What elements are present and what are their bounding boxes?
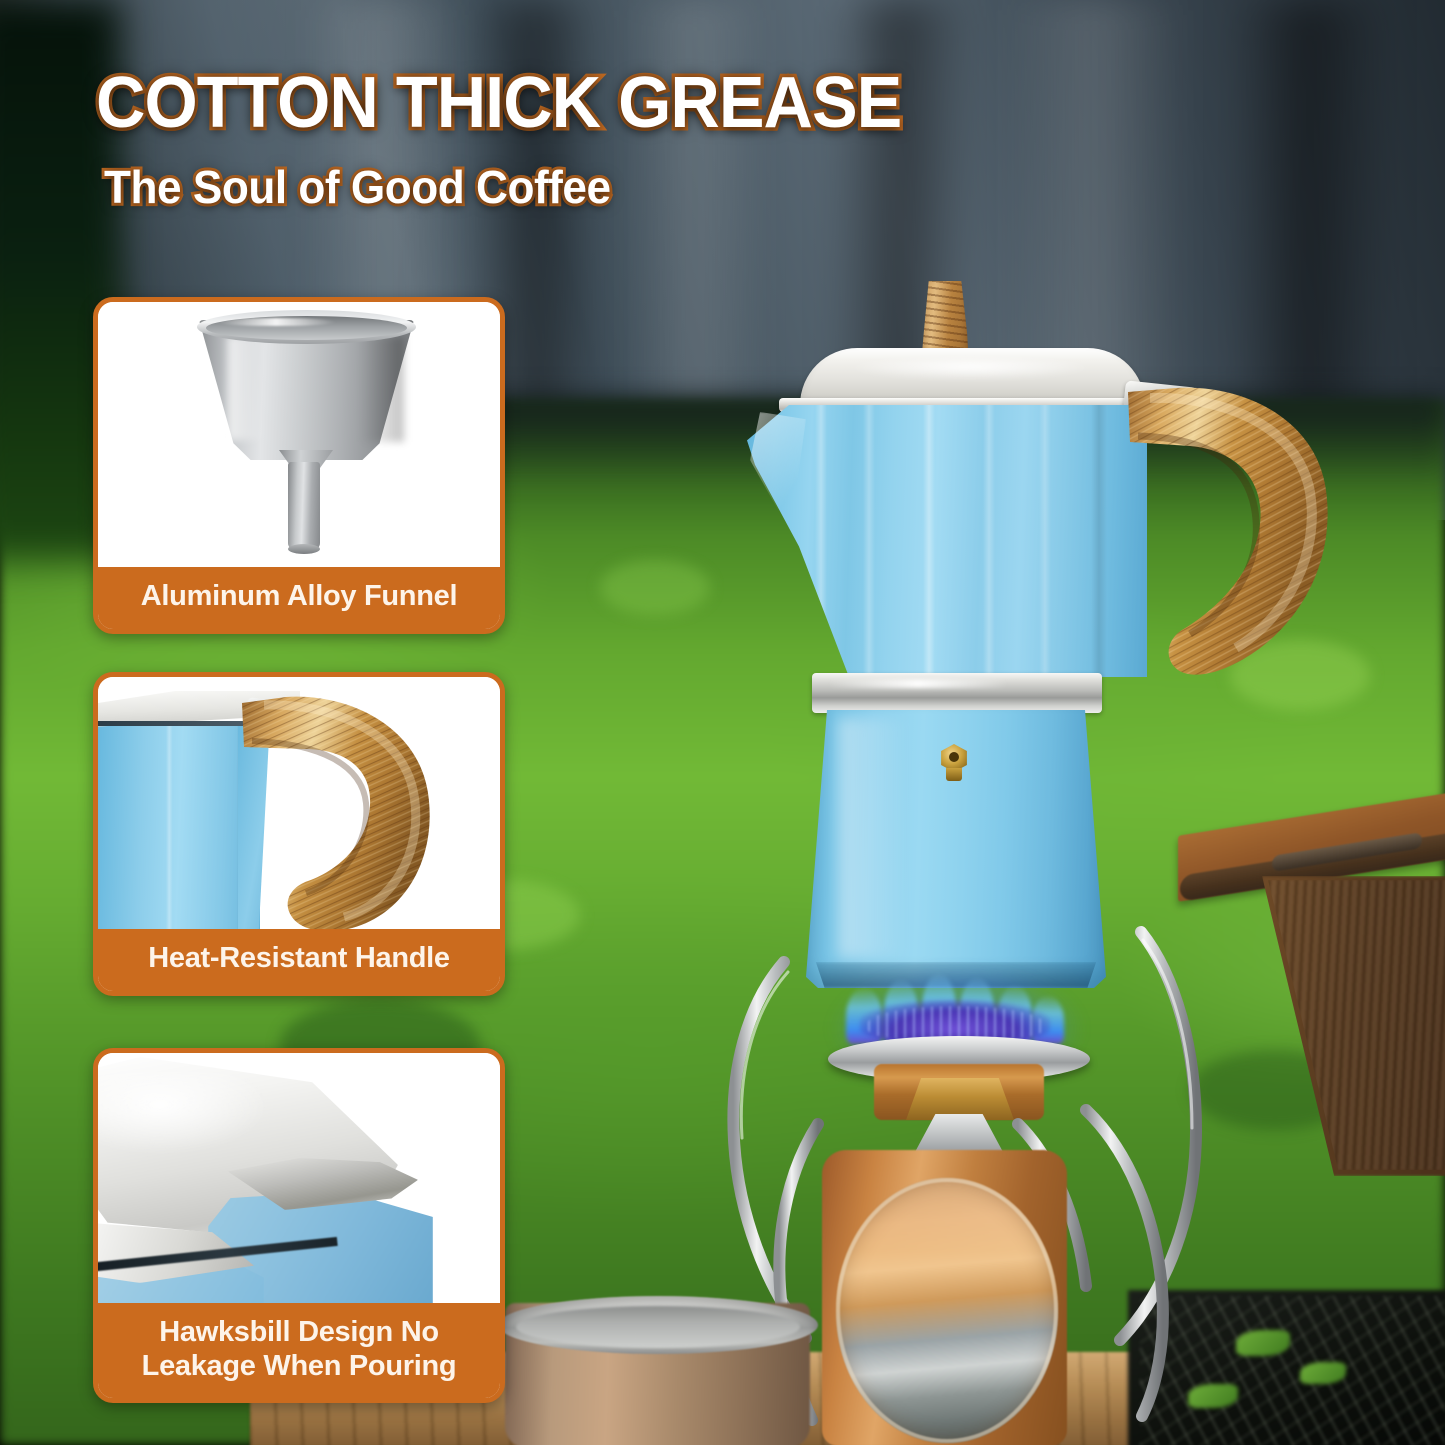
feature-card-handle[interactable]: Heat-Resistant Handle <box>93 672 505 996</box>
handle-closeup-pot-facets <box>98 721 260 929</box>
funnel-bowl-shadow <box>360 336 404 442</box>
caption-line: Aluminum Alloy Funnel <box>106 580 492 614</box>
caption-line: Heat-Resistant Handle <box>106 942 492 976</box>
feature-caption-handle: Heat-Resistant Handle <box>98 929 500 991</box>
caption-line: Leakage When Pouring <box>106 1350 492 1384</box>
steel-cup-interior <box>516 1306 800 1348</box>
feature-photo-handle <box>98 677 500 929</box>
feature-caption-funnel: Aluminum Alloy Funnel <box>98 567 500 629</box>
funnel-bowl-highlight <box>228 336 262 440</box>
copper-cup-rim-ring <box>836 1178 1058 1443</box>
page-subtitle: The Soul of Good Coffee <box>104 160 611 214</box>
funnel-tube <box>288 462 320 550</box>
funnel-tube-end <box>288 544 320 554</box>
caption-line: Hawksbill Design No <box>106 1316 492 1350</box>
funnel-rim-highlight <box>216 318 336 326</box>
feature-caption-spout: Hawksbill Design No Leakage When Pouring <box>98 1303 500 1398</box>
page-title: COTTON THICK GREASE <box>96 62 901 144</box>
feature-card-funnel[interactable]: Aluminum Alloy Funnel <box>93 297 505 634</box>
spout-closeup-lid-highlight <box>98 1073 268 1153</box>
feature-photo-funnel <box>98 302 500 567</box>
product-marketing-image: COTTON THICK GREASE The Soul of Good Cof… <box>0 0 1445 1445</box>
feature-photo-spout <box>98 1053 500 1303</box>
feature-card-spout[interactable]: Hawksbill Design No Leakage When Pouring <box>93 1048 505 1403</box>
handle-closeup-wood-handle <box>238 691 488 929</box>
